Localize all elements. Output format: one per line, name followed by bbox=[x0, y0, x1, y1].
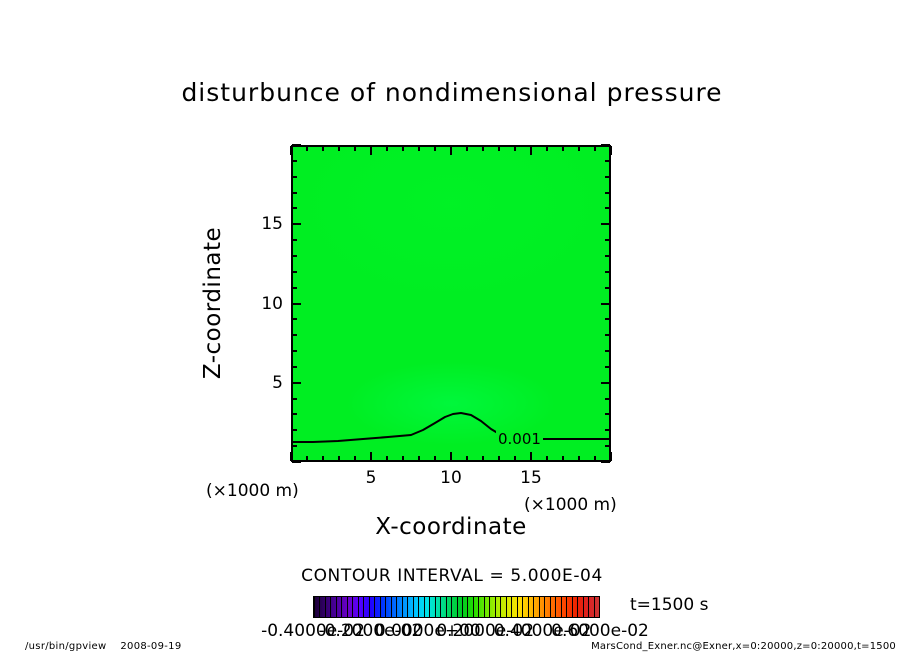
y-axis-tick bbox=[605, 160, 610, 162]
colorbar-separator bbox=[396, 597, 397, 617]
footer-command: /usr/bin/gpview bbox=[25, 641, 106, 652]
colorbar-separator bbox=[380, 597, 381, 617]
colorbar-separator bbox=[467, 597, 468, 617]
colorbar-separator bbox=[424, 597, 425, 617]
y-axis-ticklabel: 15 bbox=[241, 214, 283, 234]
footer-left: /usr/bin/gpview 2008-09-19 bbox=[25, 641, 182, 652]
x-axis-tick bbox=[514, 456, 516, 461]
x-axis-tick bbox=[482, 456, 484, 461]
colorbar-separator bbox=[550, 597, 551, 617]
colorbar-separator bbox=[418, 597, 419, 617]
x-axis-tick bbox=[594, 456, 596, 461]
colorbar-separator bbox=[473, 597, 474, 617]
colorbar-separator bbox=[457, 597, 458, 617]
y-axis-tick bbox=[292, 413, 297, 415]
x-axis-tick bbox=[578, 456, 580, 461]
y-axis-tick bbox=[605, 413, 610, 415]
colorbar-separator bbox=[319, 597, 320, 617]
y-axis-tick bbox=[605, 445, 610, 447]
x-axis-tick bbox=[386, 146, 388, 151]
x-axis-tick bbox=[354, 146, 356, 151]
colorbar-separator bbox=[517, 597, 518, 617]
x-axis-tick bbox=[530, 146, 532, 155]
colorbar bbox=[313, 596, 600, 618]
y-axis-unit-label: (×1000 m) bbox=[206, 481, 299, 501]
y-axis-tick bbox=[292, 382, 301, 384]
y-axis-tick bbox=[605, 192, 610, 194]
colorbar-separator bbox=[577, 597, 578, 617]
colorbar-separator bbox=[478, 597, 479, 617]
x-axis-tick bbox=[498, 456, 500, 461]
x-axis-tick bbox=[482, 146, 484, 151]
colorbar-separator bbox=[522, 597, 523, 617]
contour-line-group bbox=[293, 147, 609, 460]
x-axis-ticklabel: 5 bbox=[366, 468, 377, 488]
y-axis-tick bbox=[605, 207, 610, 209]
colorbar-separator bbox=[566, 597, 567, 617]
y-axis-tick bbox=[292, 223, 301, 225]
colorbar-separator bbox=[341, 597, 342, 617]
x-axis-tick bbox=[418, 146, 420, 151]
colorbar-separator bbox=[369, 597, 370, 617]
colorbar-separator bbox=[533, 597, 534, 617]
colorbar-separator bbox=[588, 597, 589, 617]
colorbar-separator bbox=[385, 597, 386, 617]
colorbar-separator bbox=[561, 597, 562, 617]
y-axis-tick bbox=[292, 350, 297, 352]
y-axis-tick bbox=[601, 461, 610, 463]
y-axis-tick bbox=[292, 176, 297, 178]
colorbar-separator bbox=[325, 597, 326, 617]
y-axis-tick bbox=[605, 176, 610, 178]
x-axis-tick bbox=[338, 456, 340, 461]
x-axis-tick bbox=[466, 146, 468, 151]
page-title: disturbunce of nondimensional pressure bbox=[0, 78, 904, 107]
colorbar-separator bbox=[314, 597, 315, 617]
colorbar-separator bbox=[429, 597, 430, 617]
colorbar-separator bbox=[363, 597, 364, 617]
plot-area: 0.001 bbox=[291, 145, 611, 462]
y-axis-tick bbox=[601, 303, 610, 305]
y-axis-title: Z-coordinate bbox=[200, 227, 226, 379]
contour-line-0.001 bbox=[293, 413, 609, 442]
x-axis-tick bbox=[610, 452, 612, 461]
x-axis-tick bbox=[402, 456, 404, 461]
colorbar-separator bbox=[435, 597, 436, 617]
colorbar-separator bbox=[511, 597, 512, 617]
colorbar-separator bbox=[402, 597, 403, 617]
colorbar-ticklabels: -0.4000e-02-0.2000e-020.0000e+000.2000e-… bbox=[250, 621, 670, 641]
y-axis-tick bbox=[605, 239, 610, 241]
y-axis-tick bbox=[605, 271, 610, 273]
x-axis-tick bbox=[466, 456, 468, 461]
y-axis-tick bbox=[292, 192, 297, 194]
y-axis-tick bbox=[605, 255, 610, 257]
y-axis-tick bbox=[292, 366, 297, 368]
colorbar-separator bbox=[462, 597, 463, 617]
colorbar-separators bbox=[314, 597, 599, 617]
x-axis-tick bbox=[354, 456, 356, 461]
x-axis-tick bbox=[610, 146, 612, 155]
x-axis-tick bbox=[306, 456, 308, 461]
colorbar-separator bbox=[555, 597, 556, 617]
colorbar-separator bbox=[599, 597, 600, 617]
y-axis-tick bbox=[292, 334, 297, 336]
colorbar-separator bbox=[446, 597, 447, 617]
y-axis-tick bbox=[605, 350, 610, 352]
x-axis-tick bbox=[290, 452, 292, 461]
x-axis-tick bbox=[562, 456, 564, 461]
x-axis-ticklabel: 15 bbox=[520, 468, 542, 488]
x-axis-unit-label: (×1000 m) bbox=[524, 495, 617, 515]
y-axis-tick bbox=[292, 429, 297, 431]
x-axis-tick bbox=[418, 456, 420, 461]
y-axis-tick bbox=[292, 207, 297, 209]
x-axis-tick bbox=[306, 146, 308, 151]
y-axis-tick bbox=[292, 160, 297, 162]
y-axis-tick bbox=[292, 303, 301, 305]
x-axis-tick bbox=[514, 146, 516, 151]
x-axis-tick bbox=[386, 456, 388, 461]
contour-interval-text: CONTOUR INTERVAL = 5.000E-04 bbox=[0, 566, 904, 586]
colorbar-separator bbox=[484, 597, 485, 617]
footer-source: MarsCond_Exner.nc@Exner,x=0:20000,z=0:20… bbox=[591, 641, 896, 652]
colorbar-ticklabel: 0.6000e-02 bbox=[551, 621, 649, 641]
y-axis-tick bbox=[292, 255, 297, 257]
contour-value-label: 0.001 bbox=[496, 430, 543, 448]
x-axis-tick bbox=[594, 146, 596, 151]
colorbar-separator bbox=[347, 597, 348, 617]
y-axis-tick bbox=[292, 271, 297, 273]
footer-date: 2008-09-19 bbox=[120, 641, 181, 652]
y-axis-tick bbox=[605, 366, 610, 368]
x-axis-tick bbox=[434, 146, 436, 151]
y-axis-tick bbox=[292, 461, 301, 463]
x-axis-tick bbox=[322, 456, 324, 461]
y-axis-tick bbox=[605, 318, 610, 320]
colorbar-separator bbox=[336, 597, 337, 617]
y-axis-tick bbox=[292, 144, 301, 146]
x-axis-tick bbox=[322, 146, 324, 151]
y-axis-tick bbox=[601, 144, 610, 146]
x-axis-tick bbox=[450, 452, 452, 461]
colorbar-separator bbox=[489, 597, 490, 617]
x-axis-tick bbox=[498, 146, 500, 151]
colorbar-separator bbox=[544, 597, 545, 617]
time-label: t=1500 s bbox=[630, 595, 708, 615]
colorbar-separator bbox=[495, 597, 496, 617]
x-axis-title: X-coordinate bbox=[291, 514, 611, 540]
y-axis-tick bbox=[605, 287, 610, 289]
colorbar-separator bbox=[374, 597, 375, 617]
x-axis-tick bbox=[402, 146, 404, 151]
y-axis-tick bbox=[605, 334, 610, 336]
x-axis-tick bbox=[450, 146, 452, 155]
y-axis-ticklabel: 10 bbox=[241, 294, 283, 314]
colorbar-separator bbox=[583, 597, 584, 617]
x-axis-tick bbox=[578, 146, 580, 151]
y-axis-ticklabel: 5 bbox=[241, 373, 283, 393]
colorbar-separator bbox=[506, 597, 507, 617]
y-axis-tick bbox=[601, 382, 610, 384]
colorbar-separator bbox=[391, 597, 392, 617]
x-axis-tick bbox=[370, 146, 372, 155]
colorbar-separator bbox=[528, 597, 529, 617]
y-axis-tick bbox=[292, 239, 297, 241]
x-axis-tick bbox=[338, 146, 340, 151]
x-axis-tick bbox=[370, 452, 372, 461]
y-axis-tick bbox=[605, 429, 610, 431]
colorbar-separator bbox=[330, 597, 331, 617]
y-axis-tick bbox=[292, 287, 297, 289]
colorbar-separator bbox=[358, 597, 359, 617]
colorbar-separator bbox=[500, 597, 501, 617]
colorbar-separator bbox=[440, 597, 441, 617]
colorbar-separator bbox=[539, 597, 540, 617]
y-axis-tick bbox=[292, 318, 297, 320]
y-axis-tick bbox=[605, 398, 610, 400]
x-axis-tick bbox=[546, 456, 548, 461]
x-axis-tick bbox=[530, 452, 532, 461]
y-axis-tick bbox=[292, 398, 297, 400]
x-axis-ticklabel: 10 bbox=[440, 468, 462, 488]
colorbar-separator bbox=[594, 597, 595, 617]
y-axis-tick bbox=[292, 445, 297, 447]
y-axis-tick bbox=[601, 223, 610, 225]
x-axis-tick bbox=[562, 146, 564, 151]
colorbar-separator bbox=[413, 597, 414, 617]
colorbar-separator bbox=[352, 597, 353, 617]
colorbar-separator bbox=[451, 597, 452, 617]
colorbar-separator bbox=[572, 597, 573, 617]
x-axis-tick bbox=[290, 146, 292, 155]
x-axis-tick bbox=[434, 456, 436, 461]
colorbar-separator bbox=[407, 597, 408, 617]
x-axis-tick bbox=[546, 146, 548, 151]
